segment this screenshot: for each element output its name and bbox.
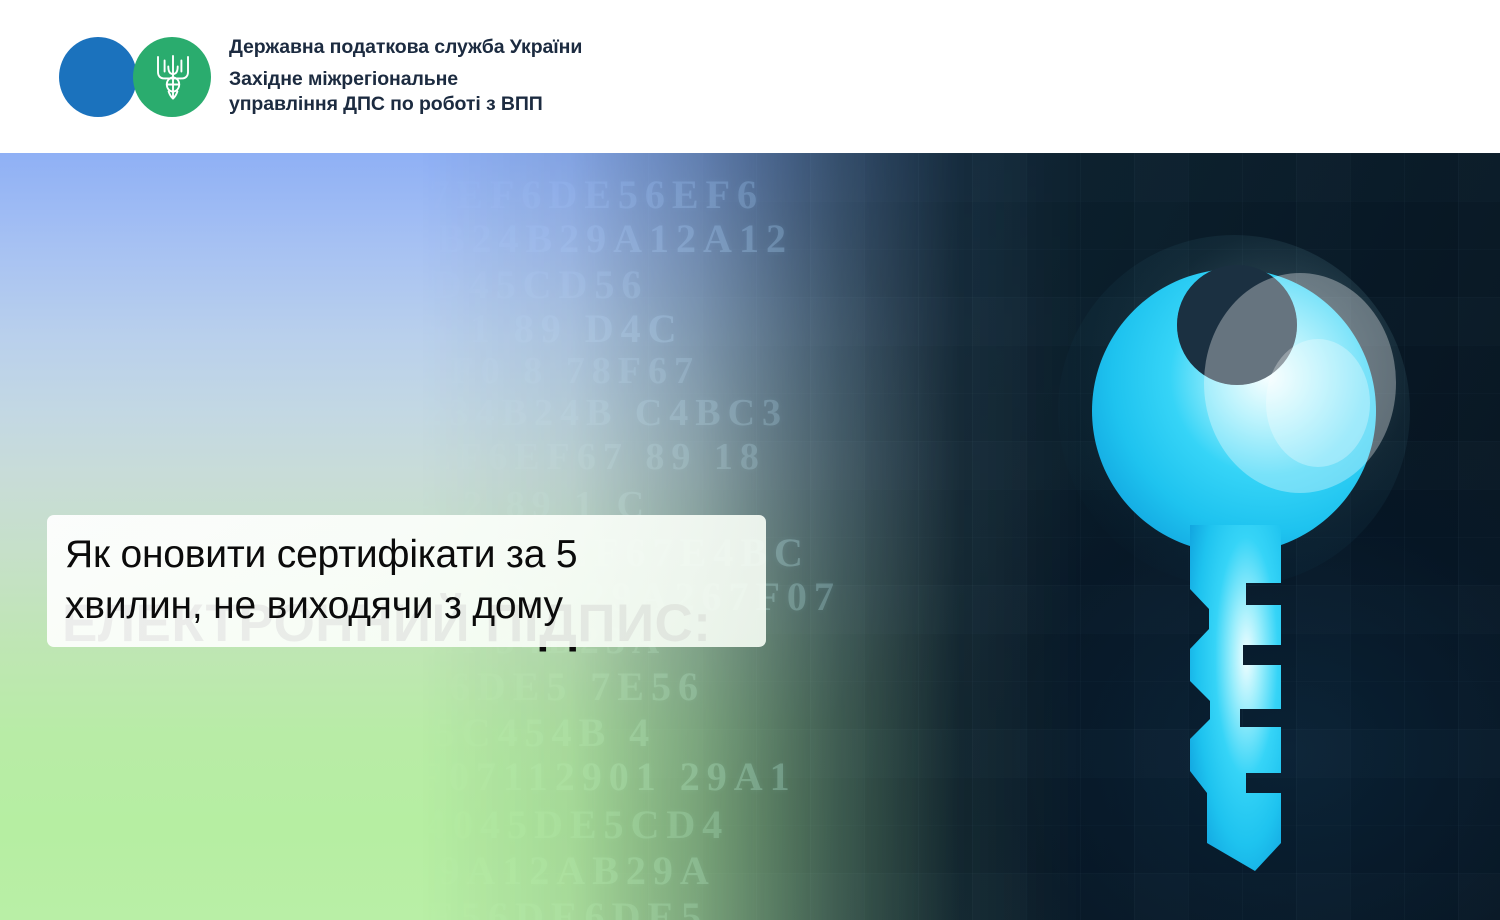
logo-blue-circle-icon [59, 37, 137, 117]
ukrainian-trident-icon [155, 54, 191, 101]
org-unit-line-2: управління ДПС по роботі з ВПП [229, 92, 582, 118]
org-unit-line-1: Західне міжрегіональне [229, 67, 582, 93]
dps-logo[interactable] [59, 37, 211, 117]
org-name: Державна податкова служба України [229, 35, 582, 61]
site-header: Державна податкова служба України Західн… [0, 0, 1500, 153]
subtitle-line-2: хвилин, не виходячи з дому [65, 580, 746, 631]
organization-text: Державна податкова служба України Західн… [229, 35, 582, 118]
subtitle-line-1: Як оновити сертифікати за 5 [65, 529, 746, 580]
hero-banner: 907EF78 7EF7EF6DE56EF62 AB3AB23AB24B29A1… [0, 153, 1500, 920]
subtitle-panel: Як оновити сертифікати за 5 хвилин, не в… [47, 515, 766, 647]
banner-page: Державна податкова служба України Західн… [0, 0, 1500, 920]
